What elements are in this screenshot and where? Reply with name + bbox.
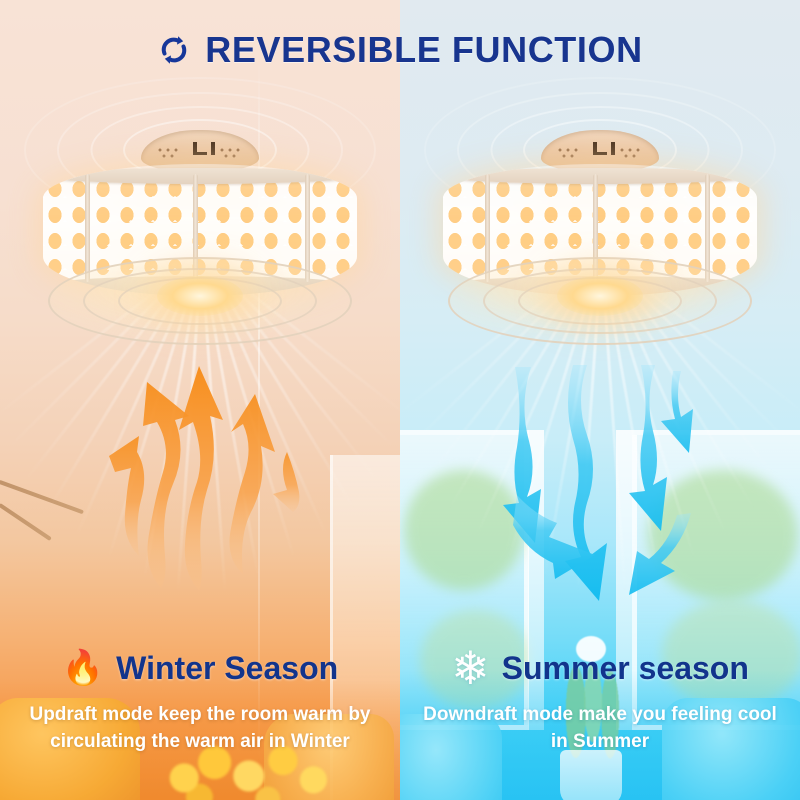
plant-stand: [560, 750, 622, 800]
decor-branch-small: [0, 503, 52, 541]
canopy-vent: [557, 147, 583, 159]
summer-caption: ❄ Summer season Downdraft mode make you …: [400, 640, 800, 756]
downdraft-arrows: [495, 365, 710, 605]
updraft-arrows: [95, 360, 305, 590]
summer-panel: ❄ Summer season Downdraft mode make you …: [400, 0, 800, 800]
ceiling-fan-light-right: [435, 130, 765, 340]
summer-season-label: Summer season: [502, 650, 749, 687]
winter-description: Updraft mode keep the room warm by circu…: [0, 702, 400, 756]
winter-heading: 🔥 Winter Season: [0, 640, 400, 696]
light-hub: [157, 276, 243, 316]
fan-blades-left: [49, 258, 351, 344]
infographic-canvas: 🔥 Winter Season Updraft mode keep the ro…: [0, 0, 800, 800]
ceiling-fan-light-left: [35, 130, 365, 340]
snowflake-emoji: ❄: [451, 645, 490, 691]
winter-season-label: Winter Season: [116, 650, 338, 687]
canopy-vent: [619, 147, 645, 159]
decor-branch: [0, 480, 84, 515]
summer-heading: ❄ Summer season: [400, 640, 800, 696]
header-banner: REVERSIBLE FUNCTION: [0, 22, 800, 78]
summer-description: Downdraft mode make you feeling cool in …: [400, 702, 800, 756]
canopy-vent: [157, 147, 183, 159]
winter-caption: 🔥 Winter Season Updraft mode keep the ro…: [0, 640, 400, 756]
canopy-vent: [219, 147, 245, 159]
fan-blades-right: [449, 258, 751, 344]
canopy-badge: [593, 142, 619, 155]
fire-emoji: 🔥: [62, 651, 104, 685]
winter-panel: 🔥 Winter Season Updraft mode keep the ro…: [0, 0, 400, 800]
canopy-badge: [193, 142, 219, 155]
page-title: REVERSIBLE FUNCTION: [205, 29, 642, 71]
reverse-cycle-icon: [157, 33, 191, 67]
light-hub: [557, 276, 643, 316]
